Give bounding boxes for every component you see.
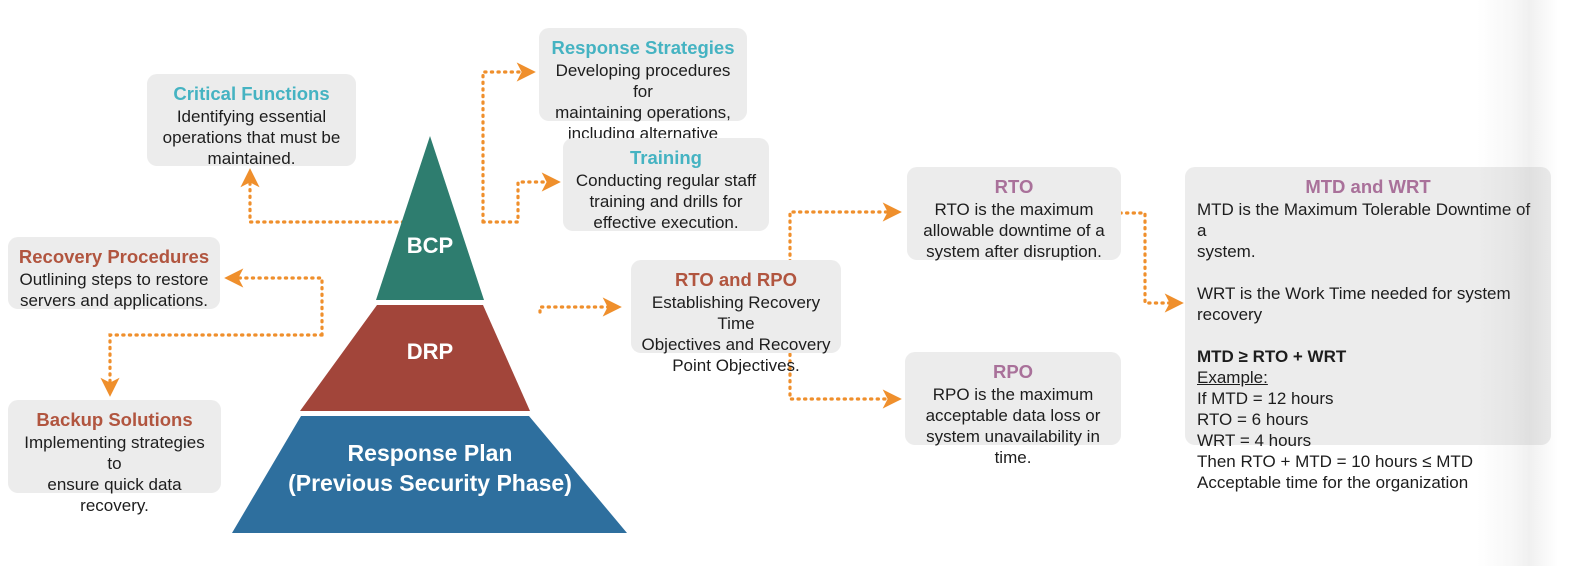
spacer (1197, 262, 1539, 283)
card-body: Implementing strategies to ensure quick … (18, 432, 211, 516)
card-example-label: Example: (1197, 367, 1539, 388)
card-body: Outlining steps to restore servers and a… (18, 269, 210, 311)
spacer (1197, 325, 1539, 346)
card-body: Identifying essential operations that mu… (157, 106, 346, 169)
card-line-wrt: WRT is the Work Time needed for system r… (1197, 283, 1539, 325)
card-title: Critical Functions (157, 82, 346, 105)
card-title: RTO and RPO (641, 268, 831, 291)
card-response-strategies[interactable]: Response Strategies Developing procedure… (539, 28, 747, 121)
card-title: RPO (915, 360, 1111, 383)
card-backup-solutions[interactable]: Backup Solutions Implementing strategies… (8, 400, 221, 493)
card-formula: MTD ≥ RTO + WRT (1197, 346, 1539, 367)
card-body: RTO is the maximum allowable downtime of… (917, 199, 1111, 262)
card-title: RTO (917, 175, 1111, 198)
card-rpo[interactable]: RPO RPO is the maximum acceptable data l… (905, 352, 1121, 445)
card-recovery-procedures[interactable]: Recovery Procedures Outlining steps to r… (8, 237, 220, 309)
card-critical-functions[interactable]: Critical Functions Identifying essential… (147, 74, 356, 166)
card-training[interactable]: Training Conducting regular staff traini… (563, 138, 769, 231)
card-title: Training (573, 146, 759, 169)
card-rto-and-rpo[interactable]: RTO and RPO Establishing Recovery Time O… (631, 260, 841, 353)
card-example-lines: If MTD = 12 hours RTO = 6 hours WRT = 4 … (1197, 388, 1539, 493)
pyramid-tier-base[interactable] (232, 416, 627, 533)
card-title: Recovery Procedures (18, 245, 210, 268)
diagram-canvas: BCP DRP Response Plan (Previous Security… (0, 0, 1572, 566)
card-line-mtd: MTD is the Maximum Tolerable Downtime of… (1197, 199, 1539, 262)
card-rto[interactable]: RTO RTO is the maximum allowable downtim… (907, 167, 1121, 260)
pyramid-tier-bcp[interactable] (376, 136, 484, 300)
card-title: Backup Solutions (18, 408, 211, 431)
card-body: RPO is the maximum acceptable data loss … (915, 384, 1111, 468)
card-body: Conducting regular staff training and dr… (573, 170, 759, 233)
pyramid-tier-drp[interactable] (300, 305, 530, 411)
card-body: Establishing Recovery Time Objectives an… (641, 292, 831, 376)
card-title: Response Strategies (549, 36, 737, 59)
card-title: MTD and WRT (1197, 175, 1539, 198)
card-mtd-and-wrt[interactable]: MTD and WRT MTD is the Maximum Tolerable… (1185, 167, 1551, 445)
